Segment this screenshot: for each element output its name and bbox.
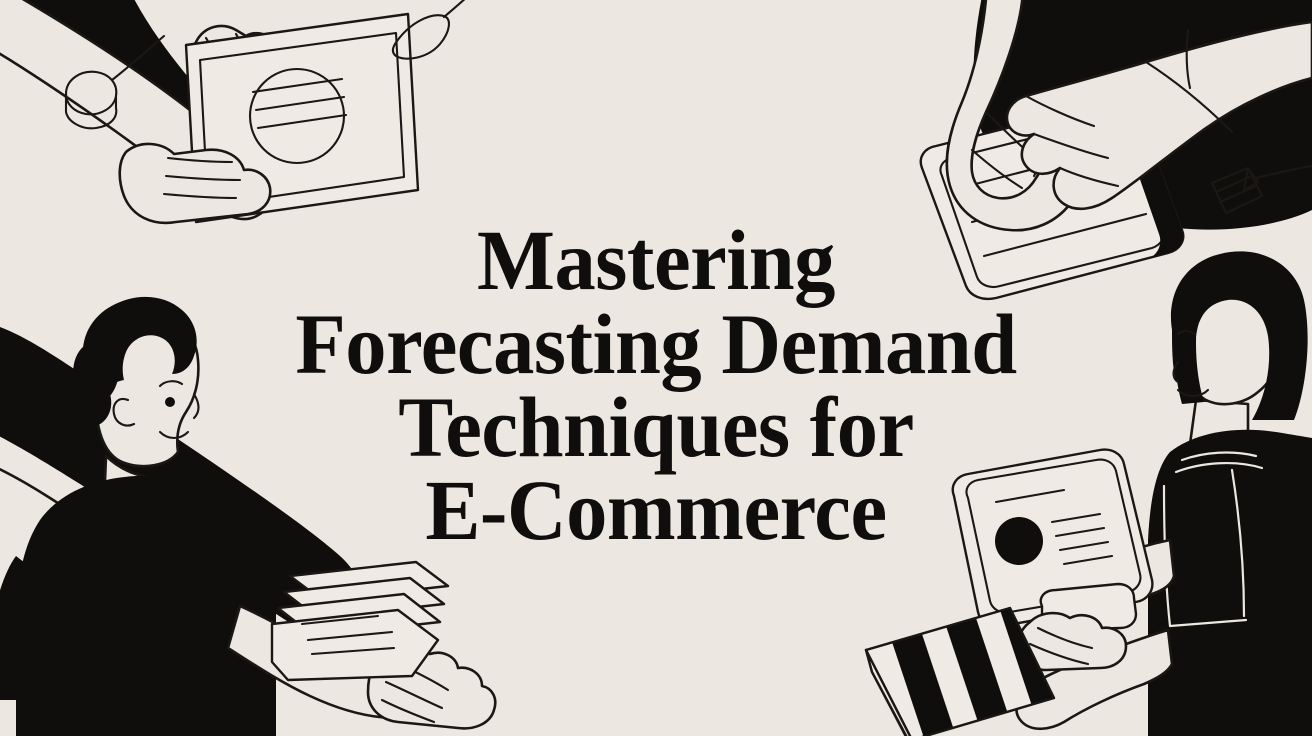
title-line-2: Forecasting Demand: [291, 303, 1021, 386]
cover-title-block: Mastering Forecasting Demand Techniques …: [0, 0, 1312, 736]
title-line-4: E-Commerce: [291, 469, 1021, 552]
title-line-3: Techniques for: [291, 386, 1021, 469]
cover-canvas: .ln { fill:none; stroke:#1A1714; stroke-…: [0, 0, 1312, 736]
title-line-1: Mastering: [291, 219, 1021, 302]
